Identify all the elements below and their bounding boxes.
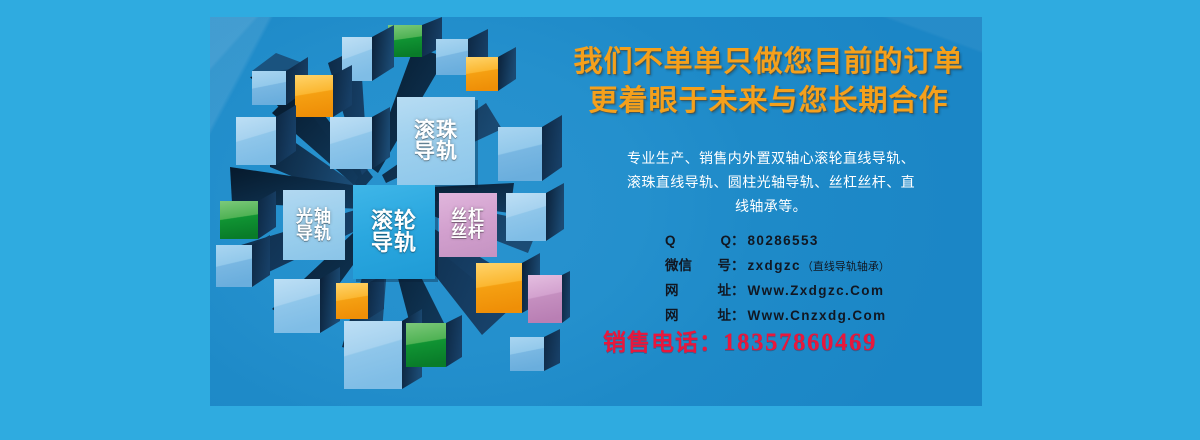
contact-row-qq: Q Q ： 80286553: [665, 229, 982, 254]
product-cube-label-line1: 丝杠: [451, 209, 485, 225]
product-cube-gunlun-daogui: 滚轮 导轨: [353, 185, 435, 279]
contact-label-website-1: 网 址: [665, 279, 731, 304]
contact-row-wechat: 微信 号 ： zxdgzc （直线导轨轴承）: [665, 254, 982, 279]
banner-copy: 我们不单单只做您目前的订单 更着眼于未来与您长期合作 专业生产、销售内外置双轴心…: [555, 17, 982, 406]
description-line-1: 专业生产、销售内外置双轴心滚轮直线导轨、: [571, 146, 971, 170]
sales-phone-label: 销售电话：: [603, 323, 723, 357]
contact-value-wechat: zxdgzc: [748, 254, 801, 279]
contact-label-qq: Q Q: [665, 229, 731, 254]
contact-separator: ：: [731, 279, 745, 304]
product-cube-label-line2: 导轨: [414, 141, 458, 162]
contact-block: Q Q ： 80286553 微信 号 ： zxdgzc （直线导轨轴承） 网 …: [665, 229, 982, 329]
contact-note-wechat: （直线导轨轴承）: [802, 257, 890, 277]
product-cube-label-line2: 导轨: [371, 232, 417, 254]
sales-phone-block: 销售电话： 18357860469: [603, 323, 982, 357]
product-cube-label-line1: 光轴: [296, 208, 332, 225]
product-cube-label-line1: 滚轮: [371, 210, 417, 232]
product-cube-label-line1: 滚珠: [414, 120, 458, 141]
product-cube-label-line2: 丝杆: [451, 225, 485, 241]
headline-line-1: 我们不单单只做您目前的订单: [555, 43, 982, 82]
contact-label-wechat: 微信 号: [665, 254, 731, 279]
description-block: 专业生产、销售内外置双轴心滚轮直线导轨、 滚珠直线导轨、圆柱光轴导轨、丝杠丝杆、…: [571, 146, 971, 218]
contact-value-website-1[interactable]: Www.Zxdgzc.Com: [748, 279, 885, 304]
product-cube-label-line2: 导轨: [296, 225, 332, 242]
contact-separator: ：: [731, 229, 745, 254]
product-cube-sigang-sigan: 丝杠 丝杆: [439, 193, 497, 257]
contact-row-website-1: 网 址 ： Www.Zxdgzc.Com: [665, 279, 982, 304]
headline-block: 我们不单单只做您目前的订单 更着眼于未来与您长期合作: [555, 43, 982, 121]
banner-panel: 滚珠 导轨 滚轮 导轨 光轴 导轨 丝杠 丝杆 我们不单单只做您目前的订单 更着…: [210, 17, 982, 406]
product-cube-guangzhou-daogui: 光轴 导轨: [283, 190, 345, 260]
description-line-2: 滚珠直线导轨、圆柱光轴导轨、丝杠丝杆、直: [571, 170, 971, 194]
contact-separator: ：: [731, 254, 745, 279]
headline-line-2: 更着眼于未来与您长期合作: [555, 82, 982, 121]
description-line-3: 线轴承等。: [571, 194, 971, 218]
product-cube-gunzhu-daogui: 滚珠 导轨: [397, 97, 475, 185]
contact-value-qq: 80286553: [748, 229, 819, 254]
sales-phone-number: 18357860469: [723, 329, 877, 357]
